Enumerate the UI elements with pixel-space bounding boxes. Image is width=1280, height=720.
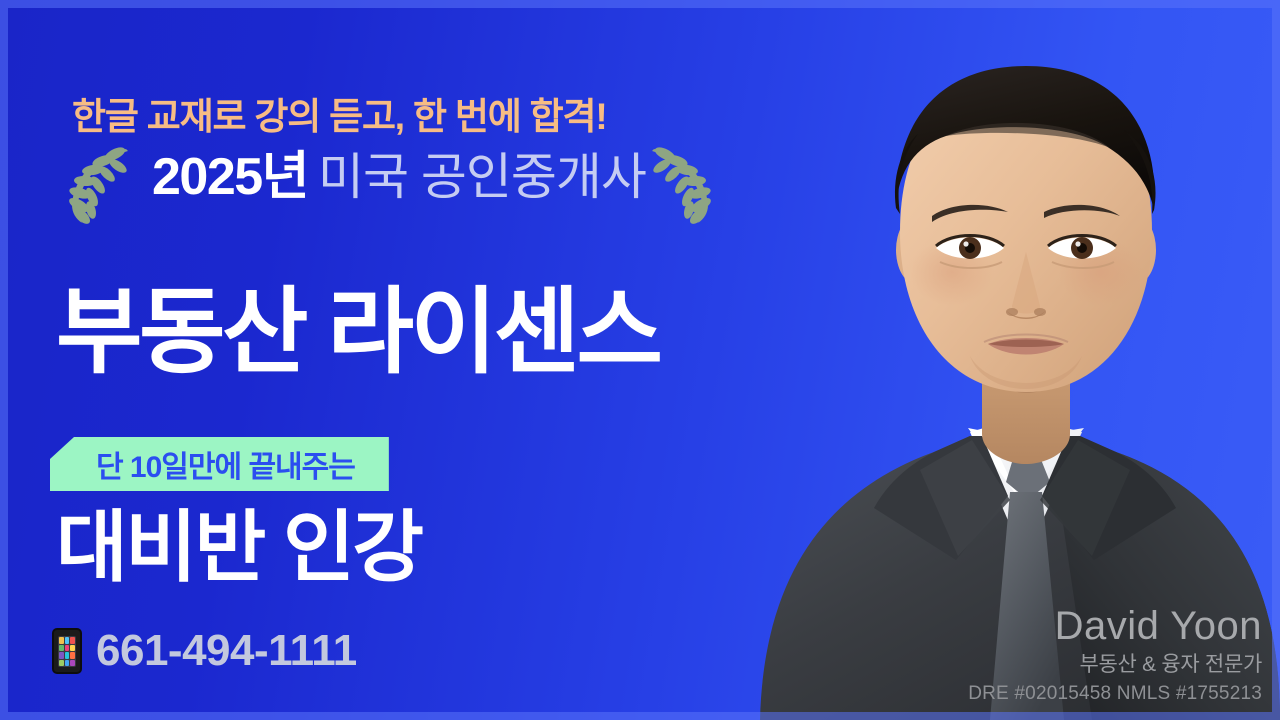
main-heading: 부동산 라이센스 xyxy=(56,285,659,379)
laurel-branch-icon xyxy=(644,143,720,225)
award-year: 2025년 xyxy=(152,148,308,206)
phone-screen xyxy=(58,636,76,667)
award-title: 미국 공인중개사 xyxy=(318,149,646,205)
contact-phone[interactable]: 661-494-1111 xyxy=(52,626,357,676)
highlight-badge: 단 10일만에 끝내주는 xyxy=(50,437,389,491)
phone-number[interactable]: 661-494-1111 xyxy=(96,626,357,676)
highlight-badge-label: 단 10일만에 끝내주는 xyxy=(96,442,355,486)
sub-heading: 대비반 인강 xyxy=(56,508,421,586)
copy-column: 한글 교재로 강의 듣고, 한 번에 합격! xyxy=(0,0,760,720)
laurel-branch-icon xyxy=(60,143,136,225)
tagline: 한글 교재로 강의 듣고, 한 번에 합격! xyxy=(72,86,606,140)
agent-name: David Yoon xyxy=(968,604,1262,649)
agent-role: 부동산 & 융자 전문가 xyxy=(968,653,1262,677)
award-line: 2025년미국 공인중개사 xyxy=(152,151,646,203)
agent-license-numbers: DRE #02015458 NMLS #1755213 xyxy=(968,683,1262,704)
award-row: 2025년미국 공인중개사 xyxy=(60,143,720,225)
promo-banner: 한글 교재로 강의 듣고, 한 번에 합격! xyxy=(0,0,1280,720)
mobile-phone-icon xyxy=(52,628,82,674)
signature-block: David Yoon 부동산 & 융자 전문가 DRE #02015458 NM… xyxy=(968,604,1262,704)
